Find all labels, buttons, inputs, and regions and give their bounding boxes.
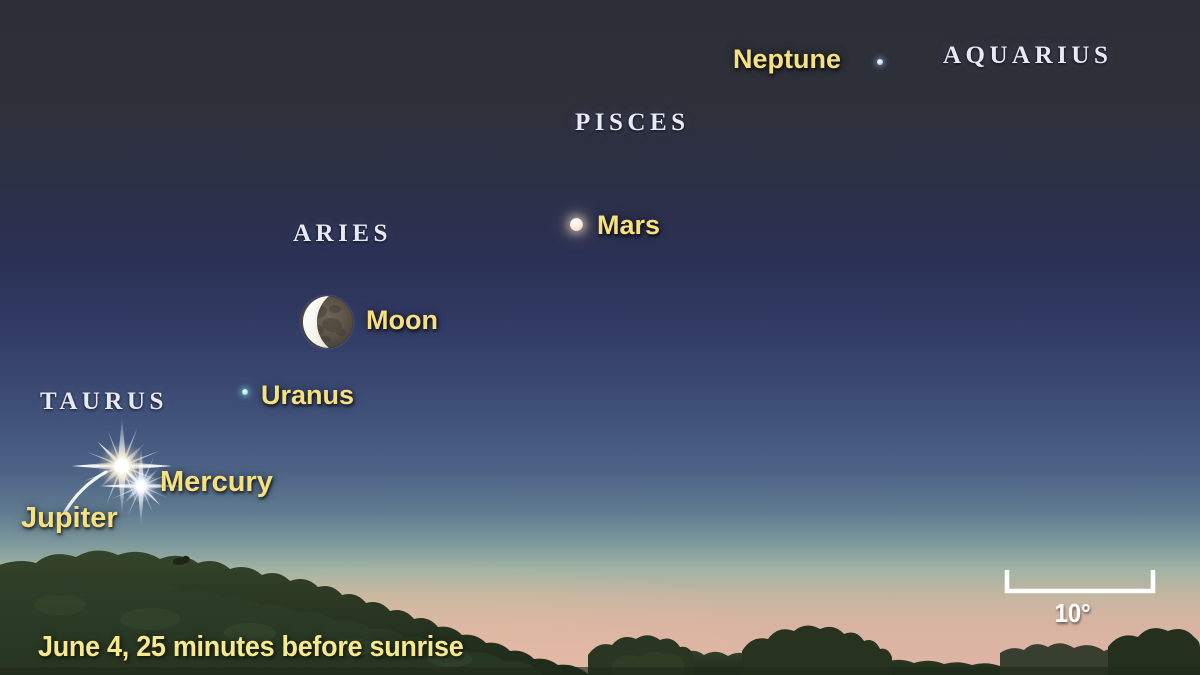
scale-bar-10deg <box>1000 566 1160 602</box>
planet-label-mercury: Mercury <box>160 468 273 497</box>
moon-marker-crescent[interactable] <box>299 294 355 350</box>
sky-chart: AQUARIUS PISCES ARIES TAURUS Neptune Mar… <box>0 0 1200 675</box>
moon-label: Moon <box>366 307 438 334</box>
planet-label-uranus: Uranus <box>261 382 354 409</box>
mars-marker-dot[interactable] <box>570 218 583 231</box>
chart-caption: June 4, 25 minutes before sunrise <box>38 633 463 662</box>
constellation-label-aquarius: AQUARIUS <box>943 43 1112 68</box>
planet-label-neptune: Neptune <box>733 46 841 73</box>
neptune-marker-dot[interactable] <box>877 59 883 65</box>
planet-label-mars: Mars <box>597 212 660 239</box>
planet-label-jupiter: Jupiter <box>21 504 118 533</box>
constellation-label-aries: ARIES <box>293 221 392 246</box>
constellation-label-taurus: TAURUS <box>40 389 168 414</box>
constellation-label-pisces: PISCES <box>575 110 690 135</box>
uranus-marker-dot[interactable] <box>242 389 248 395</box>
scale-bar-label: 10° <box>1055 600 1091 626</box>
